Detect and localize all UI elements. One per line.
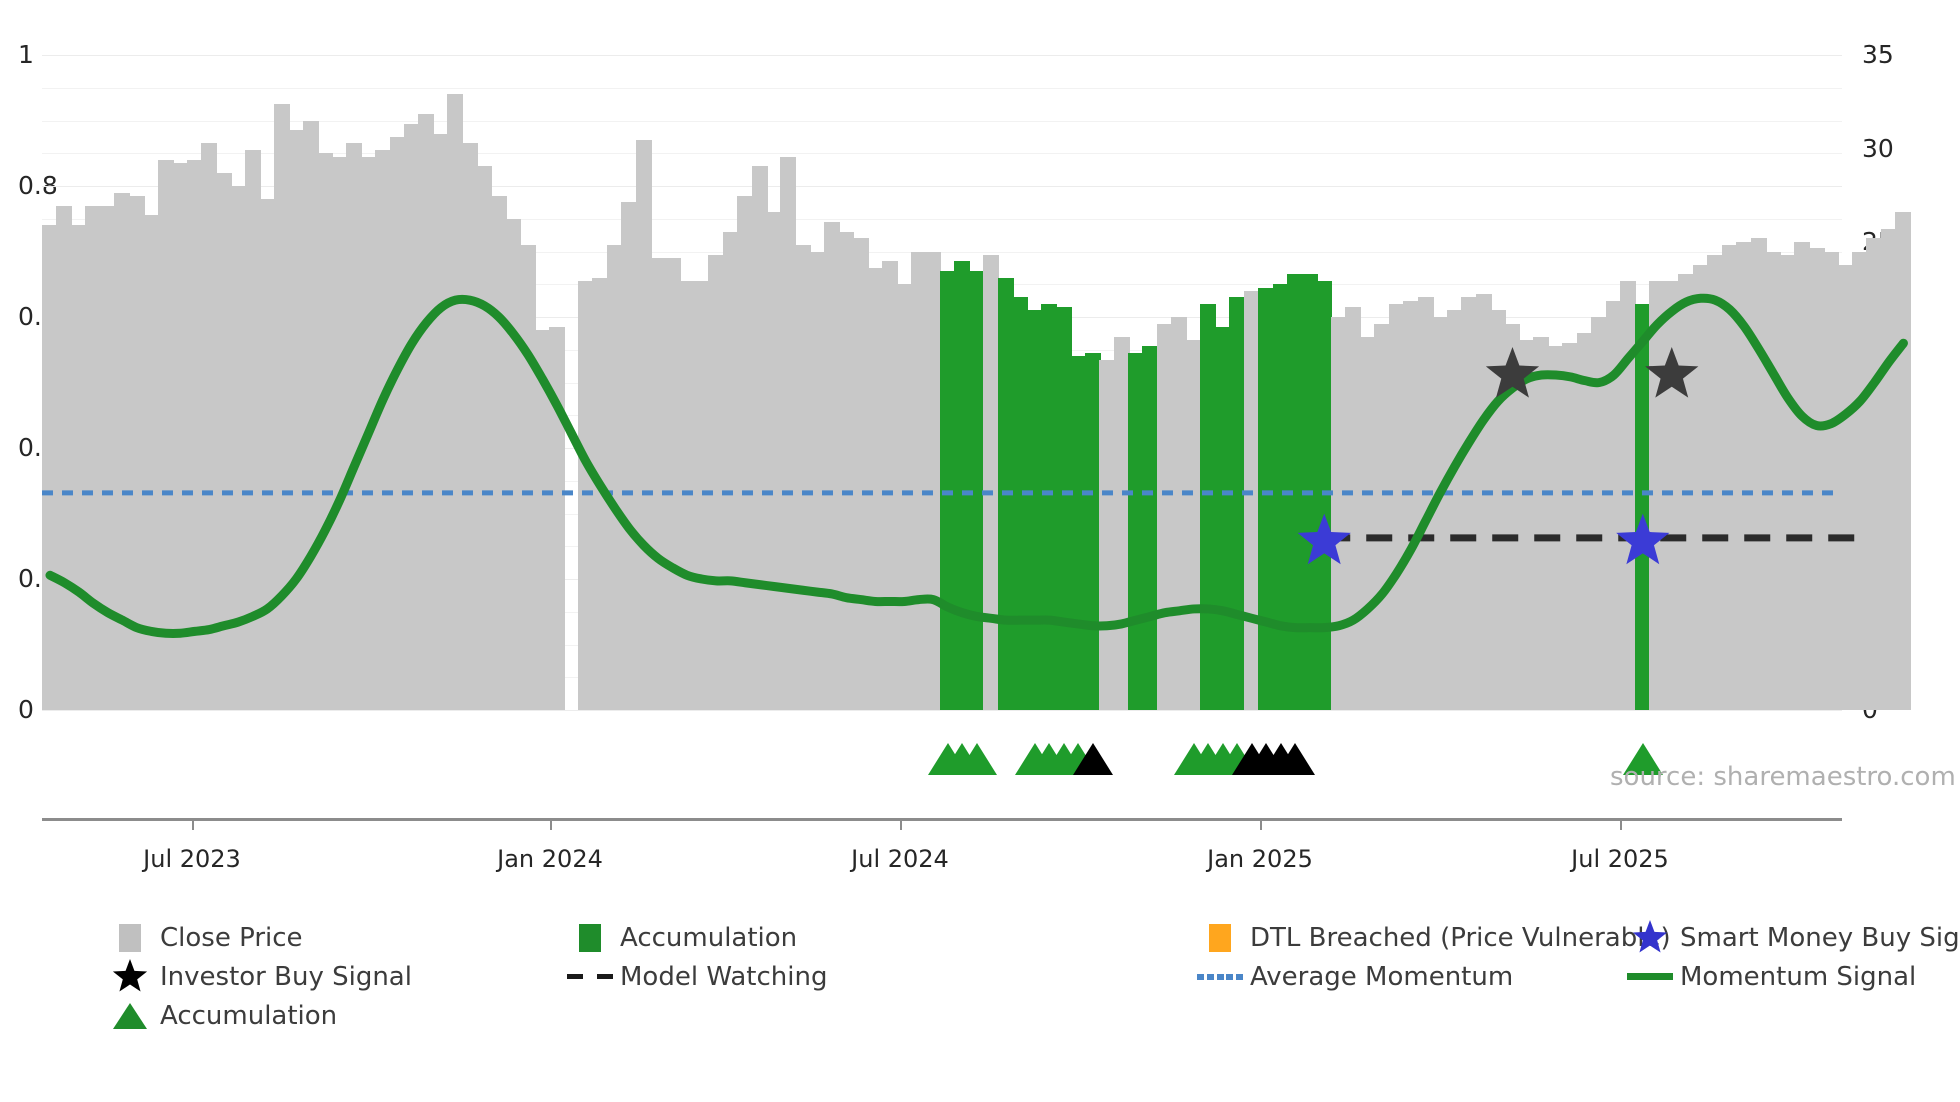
legend-dotted-line xyxy=(1197,974,1243,980)
y-axis-right-tick: 35 xyxy=(1862,42,1894,67)
plot-area xyxy=(42,55,1842,710)
legend-item[interactable]: Momentum Signal xyxy=(1620,957,1916,996)
legend-triangle-icon xyxy=(113,1003,147,1029)
x-axis-tick xyxy=(900,818,902,830)
legend-item-label: Accumulation xyxy=(620,923,797,953)
legend-item-label: Smart Money Buy Signal xyxy=(1680,923,1960,953)
legend-marker-star xyxy=(1620,919,1680,957)
legend-item[interactable]: DTL Breached (Price Vulnerable) xyxy=(1190,918,1671,957)
legend-star-icon xyxy=(111,958,149,996)
legend-item-label: DTL Breached (Price Vulnerable) xyxy=(1250,923,1671,953)
legend-marker-square xyxy=(100,924,160,952)
legend-item-label: Model Watching xyxy=(620,962,827,992)
x-axis-tick-label: Jul 2025 xyxy=(1571,845,1669,873)
legend-item-label: Accumulation xyxy=(160,1001,337,1031)
legend-item[interactable]: Close Price xyxy=(100,918,303,957)
legend-item[interactable]: Investor Buy Signal xyxy=(100,957,412,996)
legend-item-label: Momentum Signal xyxy=(1680,962,1916,992)
x-axis-tick-label: Jul 2024 xyxy=(851,845,949,873)
close-price-bar xyxy=(1895,212,1911,710)
legend-swatch-square xyxy=(1209,924,1231,952)
gridline xyxy=(42,55,1842,56)
legend-marker-triangle xyxy=(100,1003,160,1029)
legend-marker-star xyxy=(100,958,160,996)
legend-item[interactable]: Smart Money Buy Signal xyxy=(1620,918,1960,957)
x-axis-tick xyxy=(192,818,194,830)
legend-marker-line xyxy=(1620,973,1680,980)
legend-star-icon xyxy=(1631,919,1669,957)
x-axis-tick-label: Jan 2024 xyxy=(497,845,603,873)
legend-marker-square xyxy=(1190,924,1250,952)
accumulation-triangle xyxy=(957,743,997,775)
legend-row: Accumulation xyxy=(100,996,1900,1035)
legend-marker-dotted xyxy=(1190,974,1250,980)
accumulation-triangle-row xyxy=(42,735,1842,775)
y-axis-left-tick: 0 xyxy=(18,697,34,722)
legend-solid-line xyxy=(1627,973,1673,980)
x-axis-tick xyxy=(550,818,552,830)
legend-item[interactable]: Accumulation xyxy=(100,996,337,1035)
legend-item-label: Investor Buy Signal xyxy=(160,962,412,992)
legend-item[interactable]: Model Watching xyxy=(560,957,827,996)
legend-swatch-square xyxy=(119,924,141,952)
close-price-bar xyxy=(549,327,565,710)
legend-item[interactable]: Average Momentum xyxy=(1190,957,1513,996)
x-axis-tick-label: Jul 2023 xyxy=(143,845,241,873)
chart-root: 10.80.60.40.20 35302520151050 Jul 2023Ja… xyxy=(0,0,1960,1102)
legend-marker-square xyxy=(560,924,620,952)
legend-row: Investor Buy SignalModel WatchingAverage… xyxy=(100,957,1900,996)
chart-legend: Close PriceAccumulationDTL Breached (Pri… xyxy=(100,918,1900,1035)
accumulation-triangle xyxy=(1073,743,1113,775)
y-axis-left-tick: 1 xyxy=(18,42,34,67)
y-axis-right-tick: 30 xyxy=(1862,136,1894,161)
legend-item-label: Average Momentum xyxy=(1250,962,1513,992)
legend-row: Close PriceAccumulationDTL Breached (Pri… xyxy=(100,918,1900,957)
gridline xyxy=(42,710,1842,711)
x-axis-tick-label: Jan 2025 xyxy=(1207,845,1313,873)
x-axis-line xyxy=(42,818,1842,821)
x-axis-tick xyxy=(1260,818,1262,830)
x-axis-tick xyxy=(1620,818,1622,830)
accumulation-triangle xyxy=(1275,743,1315,775)
legend-swatch-square xyxy=(579,924,601,952)
gridline-minor xyxy=(42,88,1842,89)
legend-item-label: Close Price xyxy=(160,923,303,953)
legend-item[interactable]: Accumulation xyxy=(560,918,797,957)
source-watermark: source: sharemaestro.com xyxy=(1610,762,1956,792)
